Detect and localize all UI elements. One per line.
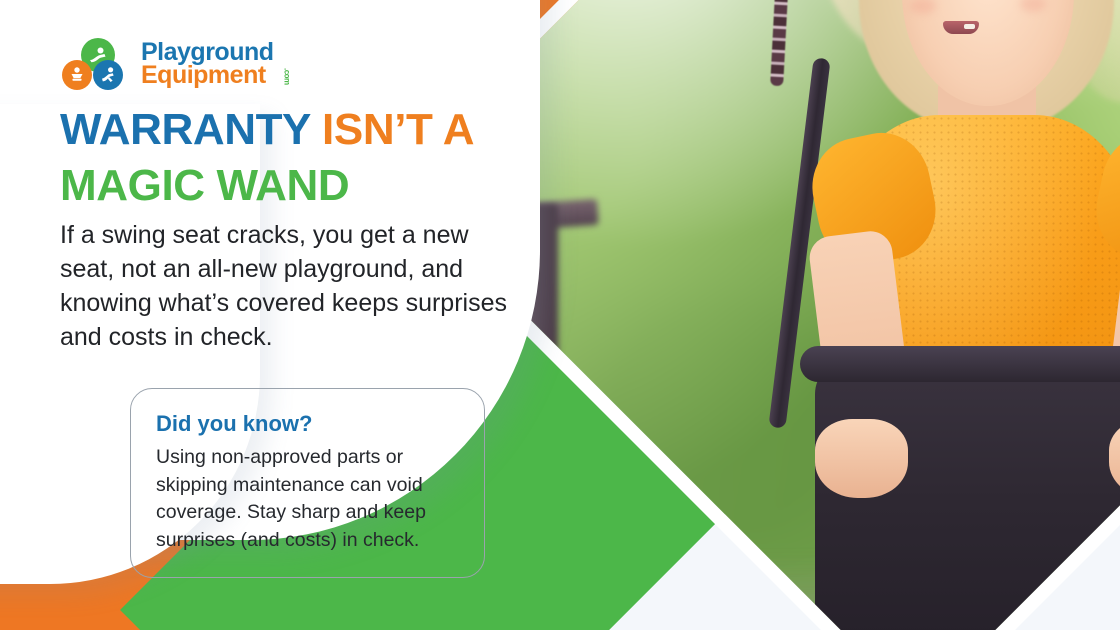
did-you-know-callout: Did you know? Using non-approved parts o… bbox=[130, 388, 485, 578]
swing-child-icon bbox=[62, 60, 92, 90]
callout-title: Did you know? bbox=[156, 411, 460, 437]
headline-part-warranty: WARRANTY bbox=[60, 105, 322, 154]
logo-wordmark: Playground Equipment .com bbox=[141, 41, 274, 87]
logo-tld: .com bbox=[283, 68, 290, 85]
body-paragraph: If a swing seat cracks, you get a new se… bbox=[60, 218, 520, 354]
poster-canvas: Playground Equipment .com WARRANTY ISN’T… bbox=[0, 0, 1120, 630]
logo-line-equipment: Equipment bbox=[141, 64, 274, 87]
headline-part-magic-wand: MAGIC WAND bbox=[60, 161, 349, 210]
child-hand-left bbox=[815, 419, 908, 497]
logo-icon-cluster bbox=[62, 38, 134, 90]
headline-part-isnt-a: ISN’T A bbox=[322, 105, 474, 154]
child-tooth bbox=[964, 24, 975, 29]
callout-text: Using non-approved parts or skipping mai… bbox=[156, 444, 460, 555]
running-child-icon bbox=[93, 60, 123, 90]
page-title: WARRANTY ISN’T A MAGIC WAND bbox=[60, 102, 530, 215]
swing-safety-bar bbox=[800, 346, 1120, 382]
content-column: Playground Equipment .com WARRANTY ISN’T… bbox=[0, 0, 560, 630]
brand-logo[interactable]: Playground Equipment .com bbox=[62, 38, 274, 90]
